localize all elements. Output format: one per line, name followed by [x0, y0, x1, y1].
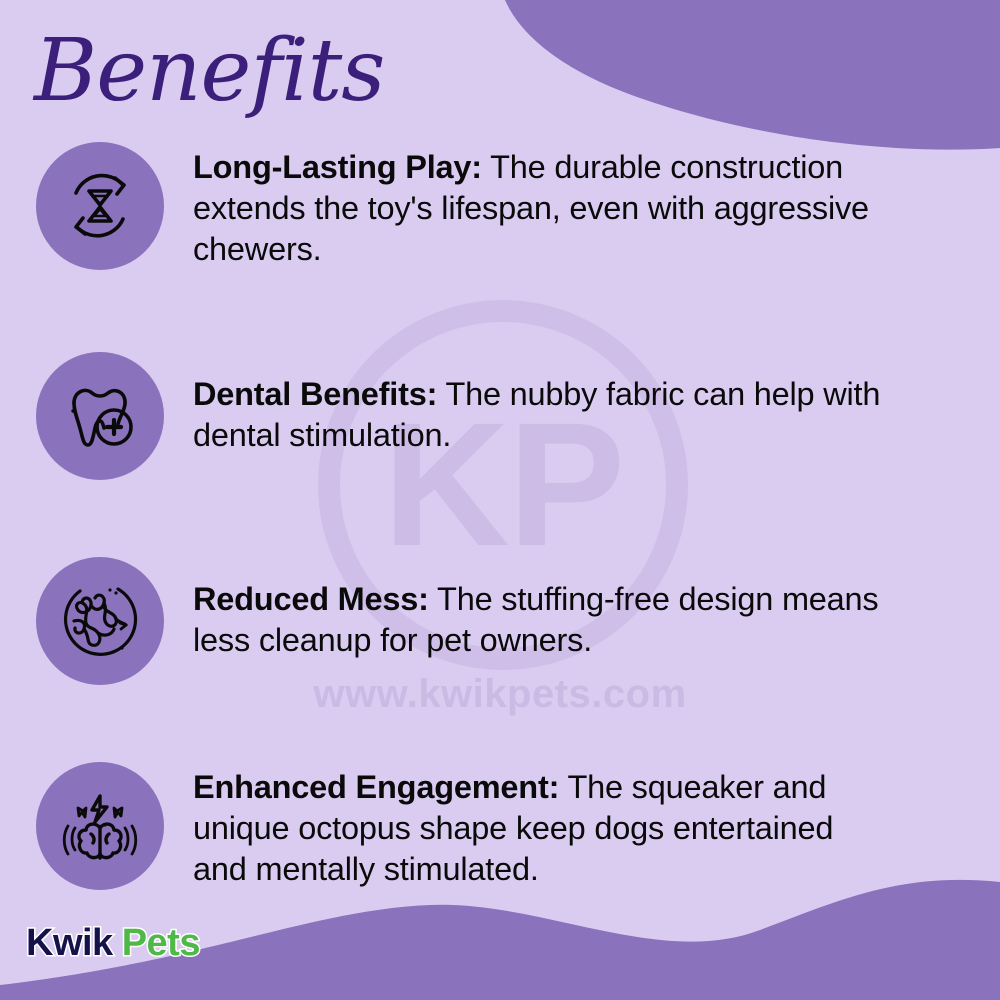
benefit-text: Enhanced Engagement: The squeaker and un…: [193, 762, 883, 889]
logo-text-kwik: Kwik: [26, 922, 113, 964]
hourglass-refresh-icon: [36, 142, 164, 270]
benefit-text: Dental Benefits: The nubby fabric can he…: [193, 352, 883, 456]
tooth-plus-icon: [36, 352, 164, 480]
benefit-lead: Long-Lasting Play:: [193, 149, 482, 185]
top-right-wave-shape: [505, 0, 1000, 150]
tangled-mess-icon: [36, 557, 164, 685]
kwik-pets-logo: KwikPets: [26, 922, 200, 965]
benefit-text: Reduced Mess: The stuffing-free design m…: [193, 557, 883, 661]
brain-energy-icon: [36, 762, 164, 890]
logo-text-pets: Pets: [122, 922, 200, 964]
benefit-item: Reduced Mess: The stuffing-free design m…: [36, 557, 966, 685]
benefit-lead: Enhanced Engagement:: [193, 769, 559, 805]
benefit-lead: Dental Benefits:: [193, 376, 437, 412]
benefit-lead: Reduced Mess:: [193, 581, 429, 617]
page-title: Benefits: [34, 28, 384, 114]
benefit-item: Enhanced Engagement: The squeaker and un…: [36, 762, 966, 890]
benefit-text: Long-Lasting Play: The durable construct…: [193, 142, 883, 269]
benefit-item: Long-Lasting Play: The durable construct…: [36, 142, 966, 270]
infographic-canvas: KP www.kwikpets.com Benefits Long-Lastin…: [0, 0, 1000, 1000]
benefit-item: Dental Benefits: The nubby fabric can he…: [36, 352, 966, 480]
